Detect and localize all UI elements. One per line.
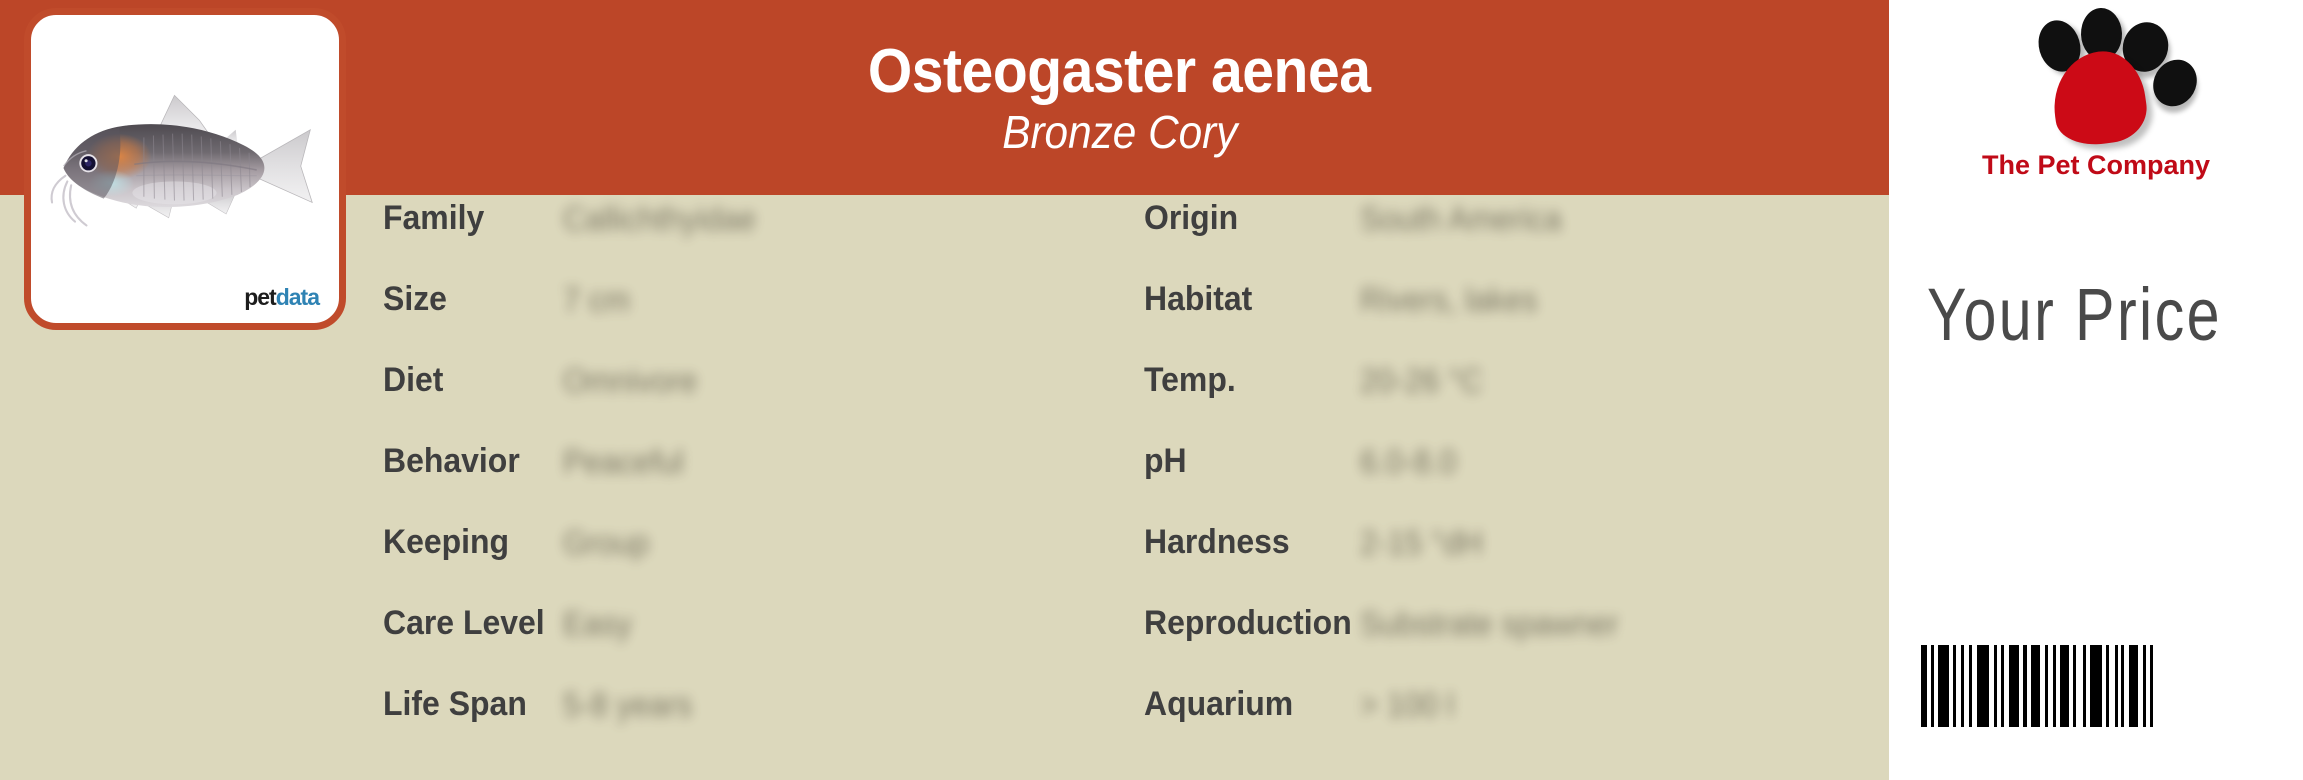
barcode-bar	[1977, 645, 1989, 727]
spec-label-size: Size	[383, 282, 447, 316]
spec-row: Care Level Easy	[383, 600, 555, 646]
spec-value-reproduction: Substrate spawner	[1360, 607, 1619, 640]
title-block: Osteogaster aenea Bronze Cory	[350, 0, 1889, 195]
spec-row: Life Span 5-8 years	[383, 681, 536, 727]
spec-value-temp: 20-26 °C	[1360, 364, 1483, 397]
spec-label-origin: Origin	[1144, 201, 1238, 235]
spec-column-left: Family Callichthyidae Size 7 cm Diet Omn…	[383, 195, 1143, 780]
brand-name-text: The Pet Company	[1889, 152, 2303, 179]
spec-label-care-level: Care Level	[383, 606, 545, 640]
spec-value-hardness: 2-15 °dH	[1360, 526, 1483, 559]
spec-label-life-span: Life Span	[383, 687, 527, 721]
barcode-gap	[2076, 645, 2083, 727]
spec-value-habitat: Rivers, lakes	[1360, 283, 1538, 316]
barcode-bar	[1938, 645, 1949, 727]
spec-row: Family Callichthyidae	[383, 195, 491, 241]
spec-value-life-span: 5-8 years	[563, 688, 692, 721]
spec-value-size: 7 cm	[563, 283, 630, 316]
spec-row: Keeping Group	[383, 519, 517, 565]
brand-logo: The Pet Company	[1889, 4, 2303, 204]
spec-value-origin: South America	[1360, 202, 1562, 235]
species-common-name: Bronze Cory	[1002, 109, 1237, 155]
spec-row: Behavior Peaceful	[383, 438, 529, 484]
barcode-bar	[2090, 645, 2102, 727]
spec-row: Temp. 20-26 °C	[1144, 357, 1242, 403]
barcode-gap	[2153, 645, 2157, 727]
spec-row: Diet Omnivore	[383, 357, 447, 403]
spec-row: Size 7 cm	[383, 276, 451, 322]
spec-label-hardness: Hardness	[1144, 525, 1290, 559]
spec-label-keeping: Keeping	[383, 525, 509, 559]
spec-label-temp: Temp.	[1144, 363, 1236, 397]
barcode-bar	[2129, 645, 2138, 727]
spec-label-ph: pH	[1144, 444, 1187, 478]
spec-value-family: Callichthyidae	[563, 202, 756, 235]
spec-label-aquarium: Aquarium	[1144, 687, 1293, 721]
spec-row: Habitat Rivers, lakes	[1144, 276, 1259, 322]
spec-value-aquarium: > 100 l	[1360, 688, 1454, 721]
spec-value-ph: 6.0-8.0	[1360, 445, 1457, 478]
spec-row: Aquarium > 100 l	[1144, 681, 1303, 727]
product-barcode	[1921, 645, 2261, 727]
spec-value-care-level: Easy	[563, 607, 632, 640]
species-info-area: Osteogaster aenea Bronze Cory	[0, 0, 1889, 780]
spec-label-behavior: Behavior	[383, 444, 520, 478]
spec-label-family: Family	[383, 201, 484, 235]
species-spec-table: Family Callichthyidae Size 7 cm Diet Omn…	[0, 195, 1889, 780]
spec-row: Hardness 2-15 °dH	[1144, 519, 1299, 565]
barcode-bar	[2009, 645, 2019, 727]
barcode-bar	[2031, 645, 2040, 727]
barcode-bar	[2060, 645, 2069, 727]
spec-value-keeping: Group	[563, 526, 649, 559]
paw-print-icon	[2013, 6, 2223, 146]
price-panel: The Pet Company Your Price	[1889, 0, 2303, 780]
species-scientific-name: Osteogaster aenea	[868, 41, 1371, 103]
spec-value-diet: Omnivore	[563, 364, 697, 397]
spec-label-habitat: Habitat	[1144, 282, 1252, 316]
spec-row: Origin South America	[1144, 195, 1244, 241]
your-price-heading: Your Price	[1927, 278, 2222, 352]
spec-value-behavior: Peaceful	[563, 445, 684, 478]
spec-column-right: Origin South America Habitat Rivers, lak…	[1144, 195, 1889, 780]
spec-row: Reproduction Substrate spawner	[1144, 600, 1365, 646]
pet-species-label-card: Osteogaster aenea Bronze Cory	[0, 0, 2303, 780]
spec-row: pH 6.0-8.0	[1144, 438, 1189, 484]
spec-label-diet: Diet	[383, 363, 443, 397]
spec-label-reproduction: Reproduction	[1144, 606, 1352, 640]
